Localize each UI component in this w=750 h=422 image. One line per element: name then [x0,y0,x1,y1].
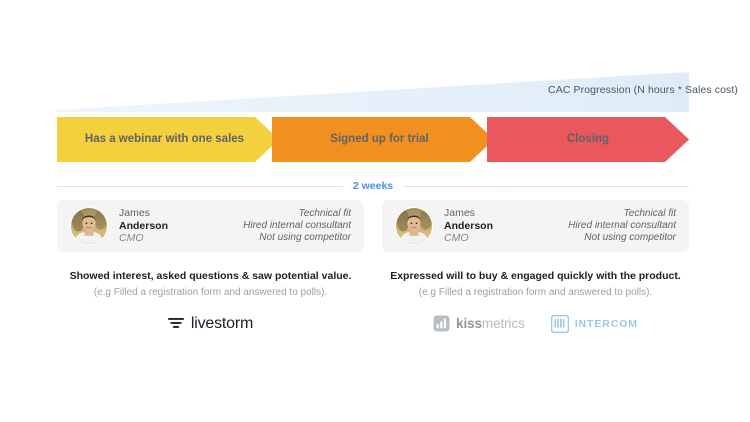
behaviour-example: (e.g Filled a registration form and answ… [382,285,689,300]
persona-last-name: Anderson [119,220,168,233]
avatar [70,207,108,245]
persona-first-name: James [119,207,168,220]
persona-card[interactable]: James Anderson CMO Technical fit Hired i… [382,200,689,252]
tool-logo-row: livestorm [57,315,364,333]
logo-livestorm[interactable]: livestorm [168,315,253,333]
behaviour-example: (e.g Filled a registration form and answ… [57,285,364,300]
logo-kissmetrics[interactable]: kissmetrics [433,315,525,332]
behaviour-block: Expressed will to buy & engaged quickly … [382,269,689,300]
persona-role: CMO [444,232,493,245]
behaviour-block: Showed interest, asked questions & saw p… [57,269,364,300]
persona-role: CMO [119,232,168,245]
infographic-canvas: CAC Progression (N hours * Sales cost) H… [0,0,750,422]
behaviour-headline: Expressed will to buy & engaged quickly … [382,269,689,285]
divider-line-right [403,186,689,187]
behaviour-headline: Showed interest, asked questions & saw p… [57,269,364,285]
kissmetrics-bars-icon [433,315,450,332]
funnel-stage-label-1[interactable]: Signed up for trial [272,117,487,162]
funnel-column-left: James Anderson CMO Technical fit Hired i… [57,200,364,333]
intercom-bars-icon [551,315,569,333]
persona-trait: Not using competitor [243,232,351,244]
avatar [395,207,433,245]
persona-trait: Hired internal consultant [243,220,351,232]
duration-label: 2 weeks [343,180,403,192]
persona-name-block: James Anderson CMO [119,207,168,245]
persona-trait: Not using competitor [568,232,676,244]
funnel-stage-label-0[interactable]: Has a webinar with one sales [57,117,272,162]
persona-first-name: James [444,207,493,220]
persona-traits: Technical fit Hired internal consultant … [243,208,351,245]
funnel-column-right: James Anderson CMO Technical fit Hired i… [382,200,689,333]
livestorm-wordmark: livestorm [191,315,253,333]
persona-traits: Technical fit Hired internal consultant … [568,208,676,245]
livestorm-funnel-icon [168,316,185,331]
funnel-stage-label-2[interactable]: Closing [487,117,689,162]
tool-logo-row: kissmetrics INTERCOM [382,315,689,333]
kissmetrics-wordmark-bold: kiss [456,316,482,331]
persona-card[interactable]: James Anderson CMO Technical fit Hired i… [57,200,364,252]
intercom-wordmark: INTERCOM [575,318,638,330]
kissmetrics-wordmark: kissmetrics [456,316,525,331]
persona-last-name: Anderson [444,220,493,233]
persona-trait: Technical fit [568,208,676,220]
divider-line-left [57,186,343,187]
duration-divider: 2 weeks [57,179,689,193]
persona-name-block: James Anderson CMO [444,207,493,245]
logo-intercom[interactable]: INTERCOM [551,315,638,333]
persona-trait: Technical fit [243,208,351,220]
cac-progression-label: CAC Progression (N hours * Sales cost) [548,84,738,96]
persona-trait: Hired internal consultant [568,220,676,232]
kissmetrics-wordmark-light: metrics [482,316,525,331]
